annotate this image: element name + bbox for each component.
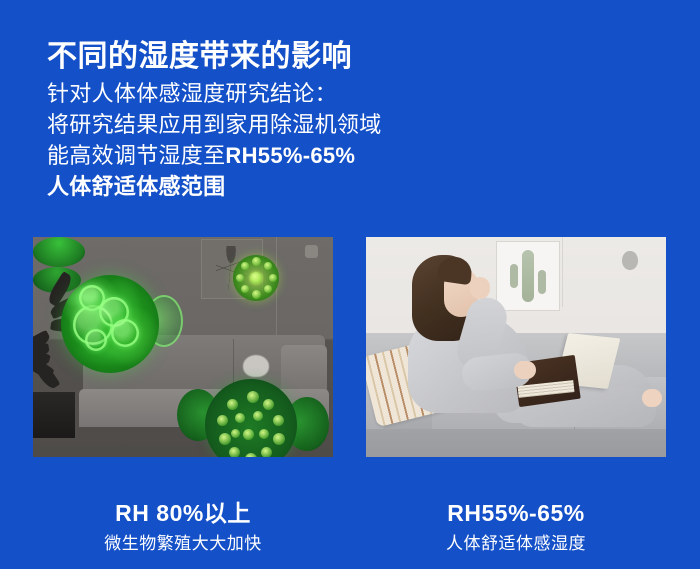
humidity-infographic-poster: 不同的湿度带来的影响 针对人体体感湿度研究结论： 将研究结果应用到家用除湿机领域… [0, 0, 700, 569]
hand-at-forehead [470, 277, 490, 299]
microbe-spike [264, 285, 272, 293]
microbe-spike [273, 433, 285, 445]
microbe-sphere-bottom [205, 379, 297, 457]
body-line-3-prefix: 能高效调节湿度至 [47, 143, 225, 168]
microbe-sphere-small [233, 255, 279, 301]
microbe-sphere-large [61, 275, 159, 373]
microbe-spike [252, 257, 261, 266]
page-title: 不同的湿度带来的影响 [47, 38, 352, 76]
body-copy: 针对人体体感湿度研究结论： 将研究结果应用到家用除湿机领域 能高效调节湿度至RH… [47, 78, 382, 202]
microbe-spike [229, 447, 240, 457]
microbe-spike [245, 453, 257, 457]
panel-image-comfort-humidity [366, 237, 666, 457]
microbe-spike [243, 429, 254, 440]
microbe-sphere-clipped [33, 237, 85, 267]
caption-high-humidity: RH 80%以上 微生物繁殖大大加快 [33, 498, 333, 556]
caption-title: RH 80%以上 [33, 498, 333, 528]
microbe-spike [236, 274, 244, 282]
microbe-spike [217, 415, 228, 426]
body-line-3-highlight: RH55%-65% [225, 143, 355, 168]
body-line-3: 能高效调节湿度至RH55%-65% [47, 140, 382, 171]
microbe-spike-ring [233, 255, 279, 301]
caption-subtitle: 微生物繁殖大大加快 [33, 532, 333, 556]
microbe-spike [227, 399, 238, 410]
microbe-spike [259, 429, 269, 439]
caption-subtitle: 人体舒适体感湿度 [366, 532, 666, 556]
dark-living-room-scene [33, 237, 333, 457]
microbe-spike-ring [205, 379, 297, 457]
microbe-spike [264, 262, 272, 270]
plant-pot [33, 392, 75, 438]
microbe-spike [235, 413, 245, 423]
microbe-spike [273, 415, 284, 426]
wall-knob [305, 245, 318, 258]
hand-holding-book [514, 361, 536, 379]
microbe-spike [250, 272, 262, 284]
woman-reading-figure [366, 237, 666, 457]
bright-living-room-scene [366, 237, 666, 457]
microbe-spike [269, 274, 277, 282]
microbe-spike [231, 429, 240, 438]
microbe-spike [247, 391, 259, 403]
microbe-spike [241, 262, 249, 270]
microbe-spike [261, 447, 272, 457]
microbe-blob [85, 329, 107, 351]
caption-comfort-humidity: RH55%-65% 人体舒适体感湿度 [366, 498, 666, 556]
microbe-spike [252, 290, 261, 299]
microbe-spike [241, 285, 249, 293]
microbe-spike [263, 399, 274, 410]
body-line-1: 针对人体体感湿度研究结论： [47, 78, 382, 109]
caption-title: RH55%-65% [366, 498, 666, 528]
microbe-blob [111, 319, 139, 347]
panel-image-high-humidity [33, 237, 333, 457]
microbe-spike [253, 411, 263, 421]
microbe-spike [219, 433, 231, 445]
sofa-cushion [243, 355, 269, 377]
foot [642, 389, 662, 407]
body-line-4: 人体舒适体感范围 [47, 171, 382, 202]
body-line-2: 将研究结果应用到家用除湿机领域 [47, 109, 382, 140]
